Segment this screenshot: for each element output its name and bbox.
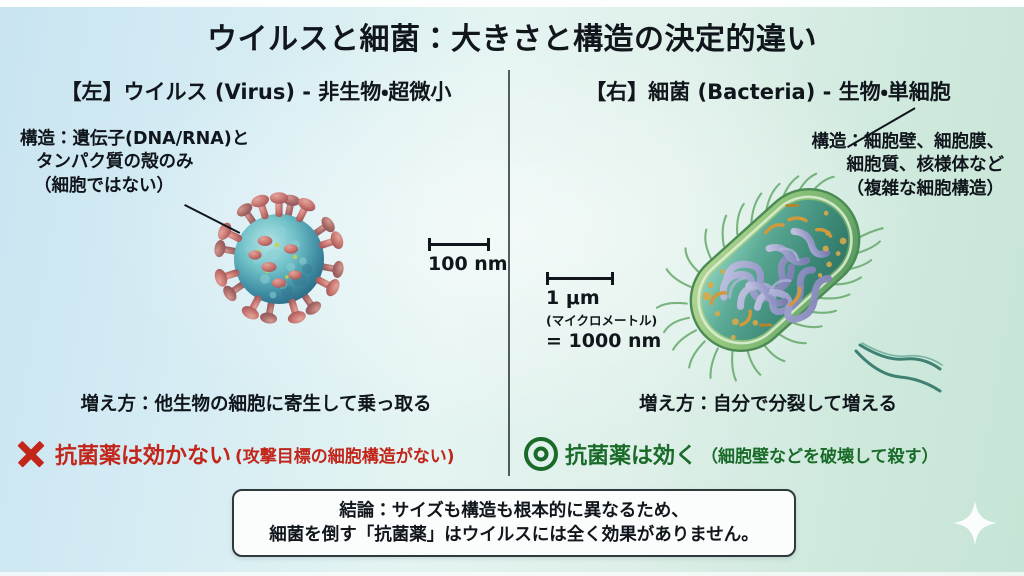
bacteria-scale-sublabel: (マイクロメートル) [546, 310, 661, 329]
bacteria-structure-annotation: 構造：細胞壁、細胞膜、 細胞質、核様体など （複雑な細胞構造） [812, 131, 1005, 201]
bacteria-scale-conversion: = 1000 nm [546, 330, 661, 352]
bacteria-scale-label: 1 μm [546, 287, 661, 309]
panel-divider [508, 70, 510, 476]
virus-growth-text: 増え方：他生物の細胞に寄生して乗っ取る [6, 390, 506, 416]
virus-coronavirus-icon [203, 183, 355, 335]
page-title: ウイルスと細菌：大きさと構造の決定的違い [0, 14, 1024, 58]
virus-annotation-line-3: （細胞ではない） [20, 175, 249, 198]
conclusion-line-2: 細菌を倒す「抗菌薬」はウイルスには全く効果がありません。 [269, 523, 758, 547]
virus-verdict-main: 抗菌薬は効かない [55, 438, 231, 470]
bacteria-verdict-note: （細胞壁などを破壊して殺す） [701, 442, 939, 467]
bacteria-annotation-line-1: 構造：細胞壁、細胞膜、 [812, 131, 1005, 154]
infographic-canvas: ウイルスと細菌：大きさと構造の決定的違い 【左】ウイルス (Virus) - 非… [0, 0, 1024, 576]
double-circle-icon [524, 437, 558, 471]
virus-scale-bar: 100 nm [428, 238, 508, 275]
virus-annotation-line-2: タンパク質の殻のみ [20, 151, 249, 174]
bacteria-annotation-line-2: 細胞質、核様体など [812, 154, 1005, 177]
bacteria-growth-text: 増え方：自分で分裂して増える [518, 390, 1018, 416]
virus-verdict-note: (攻撃目標の細胞構造がない) [235, 442, 455, 467]
virus-antibiotic-verdict: 抗菌薬は効かない (攻撃目標の細胞構造がない) [14, 437, 455, 471]
left-panel-heading: 【左】ウイルス (Virus) - 非生物・超微小 [6, 76, 506, 106]
bacteria-scale-bar: 1 μm (マイクロメートル) = 1000 nm [546, 272, 661, 352]
bacteria-antibiotic-verdict: 抗菌薬は効く （細胞壁などを破壊して殺す） [524, 437, 939, 471]
bottom-border-strip [0, 572, 1024, 576]
cross-mark-icon [14, 437, 48, 471]
top-border-strip [0, 0, 1024, 7]
conclusion-line-1: 結論：サイズも構造も根本的に異なるため、 [339, 499, 688, 523]
conclusion-box: 結論：サイズも構造も根本的に異なるため、 細菌を倒す「抗菌薬」はウイルスには全く… [232, 489, 796, 557]
virus-structure-annotation: 構造：遺伝子(DNA/RNA)と タンパク質の殻のみ （細胞ではない） [20, 128, 249, 198]
right-panel-heading: 【右】細菌 (Bacteria) - 生物・単細胞 [518, 76, 1018, 106]
bacteria-verdict-main: 抗菌薬は効く [565, 438, 697, 470]
virus-annotation-line-1: 構造：遺伝子(DNA/RNA)と [20, 128, 249, 151]
virus-scale-label: 100 nm [428, 253, 508, 275]
virus-scale-bar-line [428, 238, 490, 250]
bacteria-annotation-line-3: （複雑な細胞構造） [812, 178, 1005, 201]
bacteria-scale-bar-line [546, 272, 614, 284]
sparkle-icon [951, 499, 999, 547]
